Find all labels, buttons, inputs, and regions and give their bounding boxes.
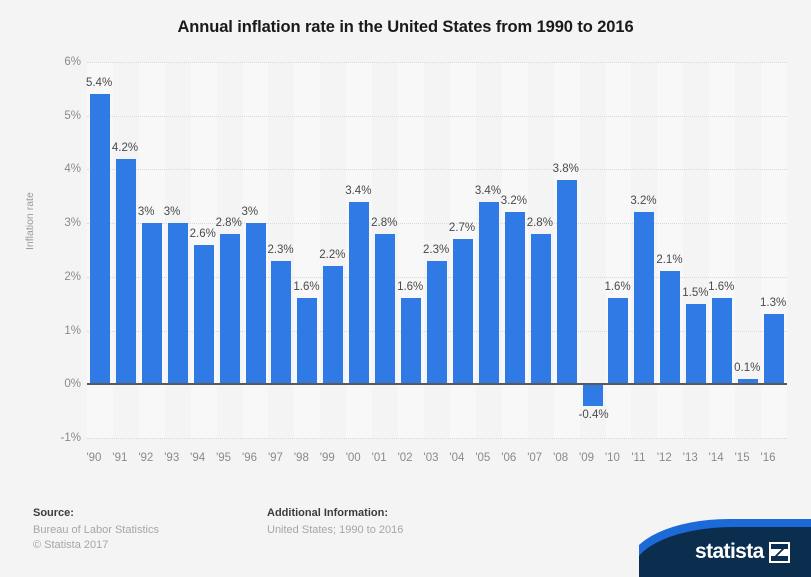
bar[interactable] [764, 314, 784, 384]
y-axis-tick-label: 1% [37, 325, 81, 337]
logo-wordmark: statista [695, 541, 764, 563]
bar[interactable] [453, 239, 473, 384]
gridline [87, 116, 787, 117]
bar-value-label: 2.6% [190, 228, 216, 240]
bar-value-label: 3% [138, 206, 155, 218]
bar-value-label: 3.8% [553, 163, 579, 175]
bar-value-label: 2.7% [449, 222, 475, 234]
bar[interactable] [194, 245, 214, 385]
source-heading: Source: [33, 507, 159, 519]
additional-info-heading: Additional Information: [267, 507, 403, 519]
bar-value-label: 3.4% [345, 185, 371, 197]
bar[interactable] [479, 202, 499, 385]
bar[interactable] [712, 298, 732, 384]
plot-area: 5.4%4.2%3%3%2.6%2.8%3%2.3%1.6%2.2%3.4%2.… [87, 62, 787, 438]
gridline [87, 223, 787, 224]
additional-info-line-1: United States; 1990 to 2016 [267, 523, 403, 538]
bar-value-label: 3% [242, 206, 259, 218]
bar-value-label: 0.1% [734, 362, 760, 374]
bar[interactable] [634, 212, 654, 384]
y-axis-tick-label: 4% [37, 163, 81, 175]
bar-value-label: 2.1% [656, 254, 682, 266]
bar-value-label: 3.4% [475, 185, 501, 197]
bar-value-label: 2.2% [319, 249, 345, 261]
bar[interactable] [505, 212, 525, 384]
bar-value-label: -0.4% [579, 409, 609, 421]
bar[interactable] [168, 223, 188, 384]
x-axis-tick-label: '16 [752, 452, 784, 464]
bar-value-label: 2.8% [371, 217, 397, 229]
bar-value-label: 2.8% [216, 217, 242, 229]
y-axis-tick-label: 2% [37, 271, 81, 283]
bar[interactable] [427, 261, 447, 385]
bar-value-label: 2.8% [527, 217, 553, 229]
page-title: Annual inflation rate in the United Stat… [0, 18, 811, 37]
bar[interactable] [583, 384, 603, 405]
bar-value-label: 1.6% [708, 281, 734, 293]
bar[interactable] [246, 223, 266, 384]
source-line-2: © Statista 2017 [33, 538, 159, 553]
y-axis-tick-label: 6% [37, 56, 81, 68]
bar-value-label: 4.2% [112, 142, 138, 154]
bar[interactable] [557, 180, 577, 384]
y-axis-ticks: 6%5%4%3%2%1%0%-1% [33, 62, 81, 438]
bar[interactable] [660, 271, 680, 384]
bar[interactable] [297, 298, 317, 384]
y-axis-tick-label: 0% [37, 378, 81, 390]
bar-value-label: 3.2% [501, 195, 527, 207]
source-line-1: Bureau of Labor Statistics [33, 523, 159, 538]
gridline [87, 169, 787, 170]
bar[interactable] [90, 94, 110, 384]
bar-value-label: 1.5% [682, 287, 708, 299]
bar-value-label: 3% [164, 206, 181, 218]
y-axis-tick-label: -1% [37, 432, 81, 444]
bar[interactable] [375, 234, 395, 384]
bar[interactable] [531, 234, 551, 384]
bar-value-label: 1.6% [293, 281, 319, 293]
additional-info-block: Additional Information: United States; 1… [267, 507, 403, 538]
bar[interactable] [323, 266, 343, 384]
bar[interactable] [686, 304, 706, 385]
gridline [87, 62, 787, 63]
bar[interactable] [349, 202, 369, 385]
y-axis-tick-label: 3% [37, 217, 81, 229]
zero-axis-line [87, 383, 787, 385]
bar-value-label: 5.4% [86, 77, 112, 89]
gridline [87, 438, 787, 439]
bar[interactable] [142, 223, 162, 384]
bar[interactable] [271, 261, 291, 385]
footer: Source: Bureau of Labor Statistics © Sta… [0, 489, 811, 577]
bar-value-label: 1.6% [397, 281, 423, 293]
bar[interactable] [220, 234, 240, 384]
bar-value-label: 2.3% [267, 244, 293, 256]
statista-chart-card: Annual inflation rate in the United Stat… [0, 0, 811, 577]
bar[interactable] [608, 298, 628, 384]
logo-glyph-icon [769, 542, 790, 563]
bar-value-label: 1.3% [760, 297, 786, 309]
bar-value-label: 1.6% [604, 281, 630, 293]
source-block: Source: Bureau of Labor Statistics © Sta… [33, 507, 159, 553]
bar[interactable] [401, 298, 421, 384]
y-axis-tick-label: 5% [37, 110, 81, 122]
bar-value-label: 2.3% [423, 244, 449, 256]
bar-value-label: 3.2% [630, 195, 656, 207]
bar[interactable] [116, 159, 136, 385]
statista-logo[interactable]: statista [639, 515, 811, 577]
x-axis-ticks: '90'91'92'93'94'95'96'97'98'99'00'01'02'… [87, 452, 787, 470]
